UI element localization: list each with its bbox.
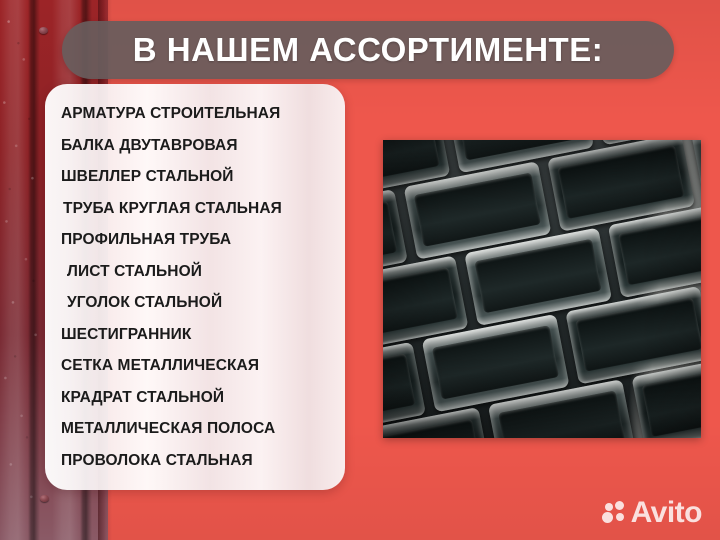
- avito-watermark: Avito: [602, 498, 702, 528]
- list-item: ШЕСТИГРАННИК: [53, 319, 345, 351]
- list-item: ТРУБА КРУГЛАЯ СТАЛЬНАЯ: [53, 193, 345, 225]
- list-item: ПРОВОЛОКА СТАЛЬНАЯ: [53, 445, 345, 477]
- page-title: В НАШЕМ АССОРТИМЕНТЕ:: [133, 31, 603, 69]
- list-item: ПРОФИЛЬНАЯ ТРУБА: [53, 224, 345, 256]
- list-item: БАЛКА ДВУТАВРОВАЯ: [53, 130, 345, 162]
- rivet-icon: [40, 495, 49, 502]
- list-item: СЕТКА МЕТАЛЛИЧЕСКАЯ: [53, 350, 345, 382]
- list-item: АРМАТУРА СТРОИТЕЛЬНАЯ: [53, 98, 345, 130]
- assortment-card: АРМАТУРА СТРОИТЕЛЬНАЯ БАЛКА ДВУТАВРОВАЯ …: [45, 84, 345, 490]
- steel-tubes-photo: [383, 140, 701, 438]
- list-item: ЛИСТ СТАЛЬНОЙ: [53, 256, 345, 288]
- list-item: ШВЕЛЛЕР СТАЛЬНОЙ: [53, 161, 345, 193]
- header-banner: В НАШЕМ АССОРТИМЕНТЕ:: [62, 21, 674, 79]
- avito-dots-logo-icon: [602, 501, 626, 525]
- advertisement-poster: В НАШЕМ АССОРТИМЕНТЕ: АРМАТУРА СТРОИТЕЛЬ…: [0, 0, 720, 540]
- list-item: МЕТАЛЛИЧЕСКАЯ ПОЛОСА: [53, 413, 345, 445]
- list-item: УГОЛОК СТАЛЬНОЙ: [53, 287, 345, 319]
- rivet-icon: [39, 27, 48, 34]
- avito-brand-label: Avito: [631, 498, 702, 528]
- assortment-list: АРМАТУРА СТРОИТЕЛЬНАЯ БАЛКА ДВУТАВРОВАЯ …: [45, 84, 345, 476]
- photo-vignette: [383, 140, 701, 438]
- list-item: КРАДРАТ СТАЛЬНОЙ: [53, 382, 345, 414]
